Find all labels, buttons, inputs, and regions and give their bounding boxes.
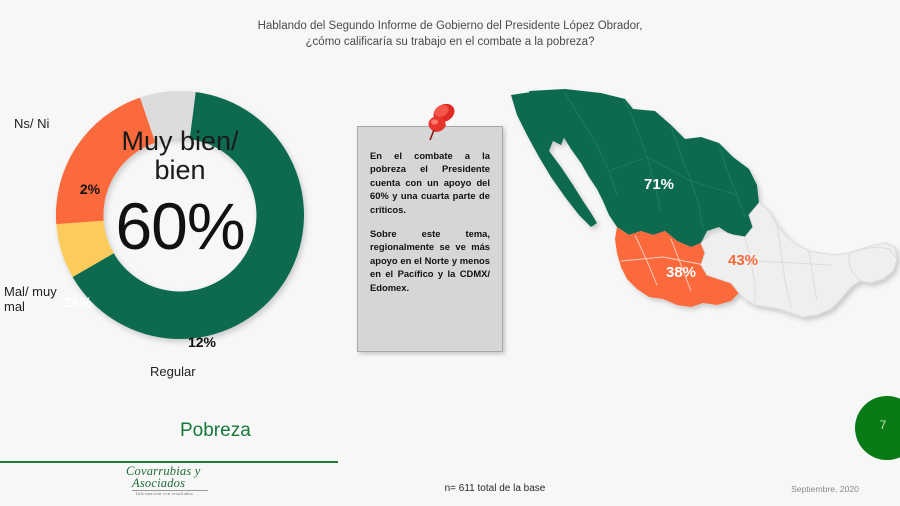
- note-paragraph-1: En el combate a la pobreza el Presidente…: [370, 149, 490, 216]
- donut-pct-mal: 26%: [64, 294, 93, 310]
- date-label: Septiembre, 2020: [770, 484, 880, 494]
- pushpin-icon: [418, 100, 462, 144]
- note-paragraph-2: Sobre este tema, regionalmente se ve más…: [370, 227, 490, 294]
- base-note: n= 611 total de la base: [330, 483, 660, 494]
- map-pct-norte: 71%: [644, 176, 674, 193]
- donut-label-regular: Regular: [150, 364, 196, 379]
- page-title: Hablando del Segundo Informe de Gobierno…: [170, 18, 730, 50]
- topic-label: Pobreza: [180, 420, 480, 442]
- donut-segment-mal: [56, 98, 155, 225]
- map-region-norte: [529, 89, 759, 247]
- title-line-1: Hablando del Segundo Informe de Gobierno…: [170, 18, 730, 34]
- logo-tagline: Información con resultados: [136, 491, 193, 496]
- donut-label-ns-ni: Ns/ Ni: [14, 116, 49, 131]
- donut-label-mal-line2: mal: [4, 299, 57, 314]
- title-line-2: ¿cómo calificaría su trabajo en el comba…: [170, 34, 730, 50]
- page-number: 7: [872, 418, 894, 432]
- donut-chart-svg: 26% 2% 12%: [20, 52, 340, 382]
- company-logo: Covarrubias y Asociados Información con …: [118, 463, 224, 499]
- donut-label-mal: Mal/ muy mal: [4, 284, 57, 314]
- donut-label-mal-line1: Mal/ muy: [4, 284, 57, 299]
- slide-root: Hablando del Segundo Informe de Gobierno…: [0, 0, 900, 506]
- logo-line-2: Asociados: [132, 476, 185, 491]
- map-pct-pacifico: 38%: [666, 264, 696, 281]
- insight-note: En el combate a la pobreza el Presidente…: [357, 126, 503, 352]
- donut-pct-regular: 12%: [188, 334, 217, 350]
- map-pct-centro: 43%: [728, 252, 758, 269]
- mexico-region-map: 71% 38% 43%: [505, 85, 900, 370]
- donut-chart: 26% 2% 12% Muy bien/ bien 60%: [20, 52, 340, 382]
- donut-pct-ns-ni: 2%: [80, 181, 101, 197]
